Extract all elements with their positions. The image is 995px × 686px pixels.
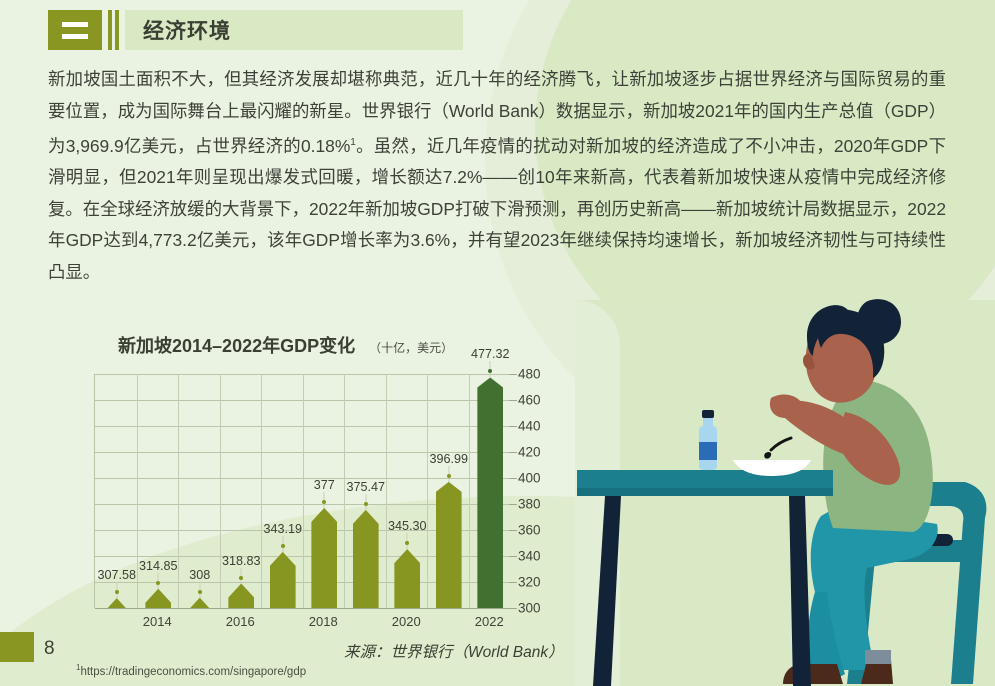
chart-bar-value-label: 477.32 <box>471 347 510 361</box>
chart-bar-marker <box>281 544 285 548</box>
chart-bar[interactable]: 375.47 <box>353 374 379 608</box>
gdp-chart: 新加坡2014–2022年GDP变化 （十亿，美元） 307.58314.853… <box>60 332 580 642</box>
chart-y-tick-mark <box>509 400 517 401</box>
section-number-badge <box>48 10 102 50</box>
chart-bar-marker <box>156 581 160 585</box>
chart-bar-value-label: 396.99 <box>429 452 468 466</box>
chart-bar-value-label: 307.58 <box>97 568 136 582</box>
chart-y-tick-label: 340 <box>518 549 541 564</box>
chart-y-tick-mark <box>509 556 517 557</box>
chart-title: 新加坡2014–2022年GDP变化 <box>118 332 355 358</box>
chart-x-tick-label: 2022 <box>475 614 504 629</box>
chart-bar-value-label: 377 <box>314 478 335 492</box>
chart-source-note: 来源：世界银行（World Bank） <box>344 640 564 662</box>
chart-bar-shape <box>353 510 379 608</box>
slide-page: 经济环境 新加坡国土面积不大，但其经济发展却堪称典范，近几十年的经济腾飞，让新加… <box>0 0 995 686</box>
chart-y-tick-mark <box>509 504 517 505</box>
chart-y-tick-mark <box>509 478 517 479</box>
chart-y-tick-mark <box>509 426 517 427</box>
chart-bar-shape <box>228 584 254 608</box>
chart-y-tick-mark <box>509 374 517 375</box>
chart-bar-value-label: 375.47 <box>346 480 385 494</box>
chart-bars: 307.58314.85308318.83343.19377375.47345.… <box>96 374 510 608</box>
chart-y-tick-mark <box>509 530 517 531</box>
chart-bar[interactable]: 318.83 <box>228 374 254 608</box>
chart-y-tick-label: 400 <box>518 471 541 486</box>
header-rule <box>115 10 119 50</box>
chart-bar[interactable]: 343.19 <box>270 374 296 608</box>
chart-bar-shape <box>187 598 213 608</box>
chart-bar-value-label: 314.85 <box>139 559 178 573</box>
chart-x-tick-label: 2018 <box>309 614 338 629</box>
chart-y-tick-mark <box>509 582 517 583</box>
chart-gridline <box>95 608 510 609</box>
chart-bar-value-label: 318.83 <box>222 554 261 568</box>
chart-y-tick-label: 440 <box>518 419 541 434</box>
chart-bar-shape <box>270 552 296 608</box>
chart-bar-marker <box>239 576 243 580</box>
chart-bar-value-label: 343.19 <box>263 522 302 536</box>
header-rule-group <box>108 10 119 50</box>
chart-bar-value-label: 345.30 <box>388 519 427 533</box>
section-header: 经济环境 <box>48 10 463 50</box>
chart-x-tick-label: 2016 <box>226 614 255 629</box>
chart-y-tick-label: 360 <box>518 523 541 538</box>
chart-y-tick-label: 380 <box>518 497 541 512</box>
chart-bar[interactable]: 345.30 <box>394 374 420 608</box>
chart-bar-shape <box>311 508 337 608</box>
chart-y-tick-mark <box>509 452 517 453</box>
chart-subtitle: （十亿，美元） <box>369 339 453 356</box>
chart-bar[interactable]: 307.58 <box>104 374 130 608</box>
illustration-person-eating <box>575 292 995 686</box>
chart-bar[interactable]: 477.32 <box>477 374 503 608</box>
chart-bar-marker <box>364 502 368 506</box>
chart-bar[interactable]: 396.99 <box>436 374 462 608</box>
badge-stroke-bottom <box>62 34 88 39</box>
chart-bar-marker <box>115 590 119 594</box>
chart-x-tick-label: 2014 <box>143 614 172 629</box>
page-title: 经济环境 <box>143 15 231 45</box>
badge-stroke-top <box>62 22 88 27</box>
chart-bar-value-label: 308 <box>189 568 210 582</box>
footnote: 1https://tradingeconomics.com/singapore/… <box>76 663 306 678</box>
chart-y-tick-label: 480 <box>518 367 541 382</box>
chart-bar-shape <box>145 589 171 608</box>
chart-y-tick-label: 300 <box>518 601 541 616</box>
paragraph-part-2: 。虽然，近几年疫情的扰动对新加坡的经济造成了不小冲击，2020年GDP下滑明显，… <box>48 136 946 282</box>
chart-bar-marker <box>488 369 492 373</box>
chart-bar[interactable]: 377 <box>311 374 337 608</box>
footnote-url: https://tradingeconomics.com/singapore/g… <box>80 666 306 678</box>
chart-y-tick-mark <box>509 608 517 609</box>
header-rule <box>108 10 112 50</box>
chart-y-tick-label: 460 <box>518 393 541 408</box>
chart-bar-shape <box>477 377 503 608</box>
chart-bar-marker <box>405 541 409 545</box>
chart-x-tick-label: 2020 <box>392 614 421 629</box>
chart-plot: 307.58314.85308318.83343.19377375.47345.… <box>94 374 539 614</box>
chart-bar[interactable]: 308 <box>187 374 213 608</box>
chart-bar-marker <box>447 474 451 478</box>
chart-plot-area: 307.58314.85308318.83343.19377375.47345.… <box>94 374 509 608</box>
section-title-band: 经济环境 <box>125 10 463 50</box>
chart-bar[interactable]: 314.85 <box>145 374 171 608</box>
chart-y-tick-label: 320 <box>518 575 541 590</box>
page-number: 8 <box>44 638 55 660</box>
body-paragraph: 新加坡国土面积不大，但其经济发展却堪称典范，近几十年的经济腾飞，让新加坡逐步占据… <box>48 64 946 288</box>
chart-y-tick-label: 420 <box>518 445 541 460</box>
footer-accent-swatch <box>0 632 34 662</box>
chart-bar-shape <box>104 598 130 608</box>
chart-bar-marker <box>198 590 202 594</box>
chart-bar-shape <box>394 549 420 608</box>
chart-bar-shape <box>436 482 462 608</box>
chart-bar-marker <box>322 500 326 504</box>
